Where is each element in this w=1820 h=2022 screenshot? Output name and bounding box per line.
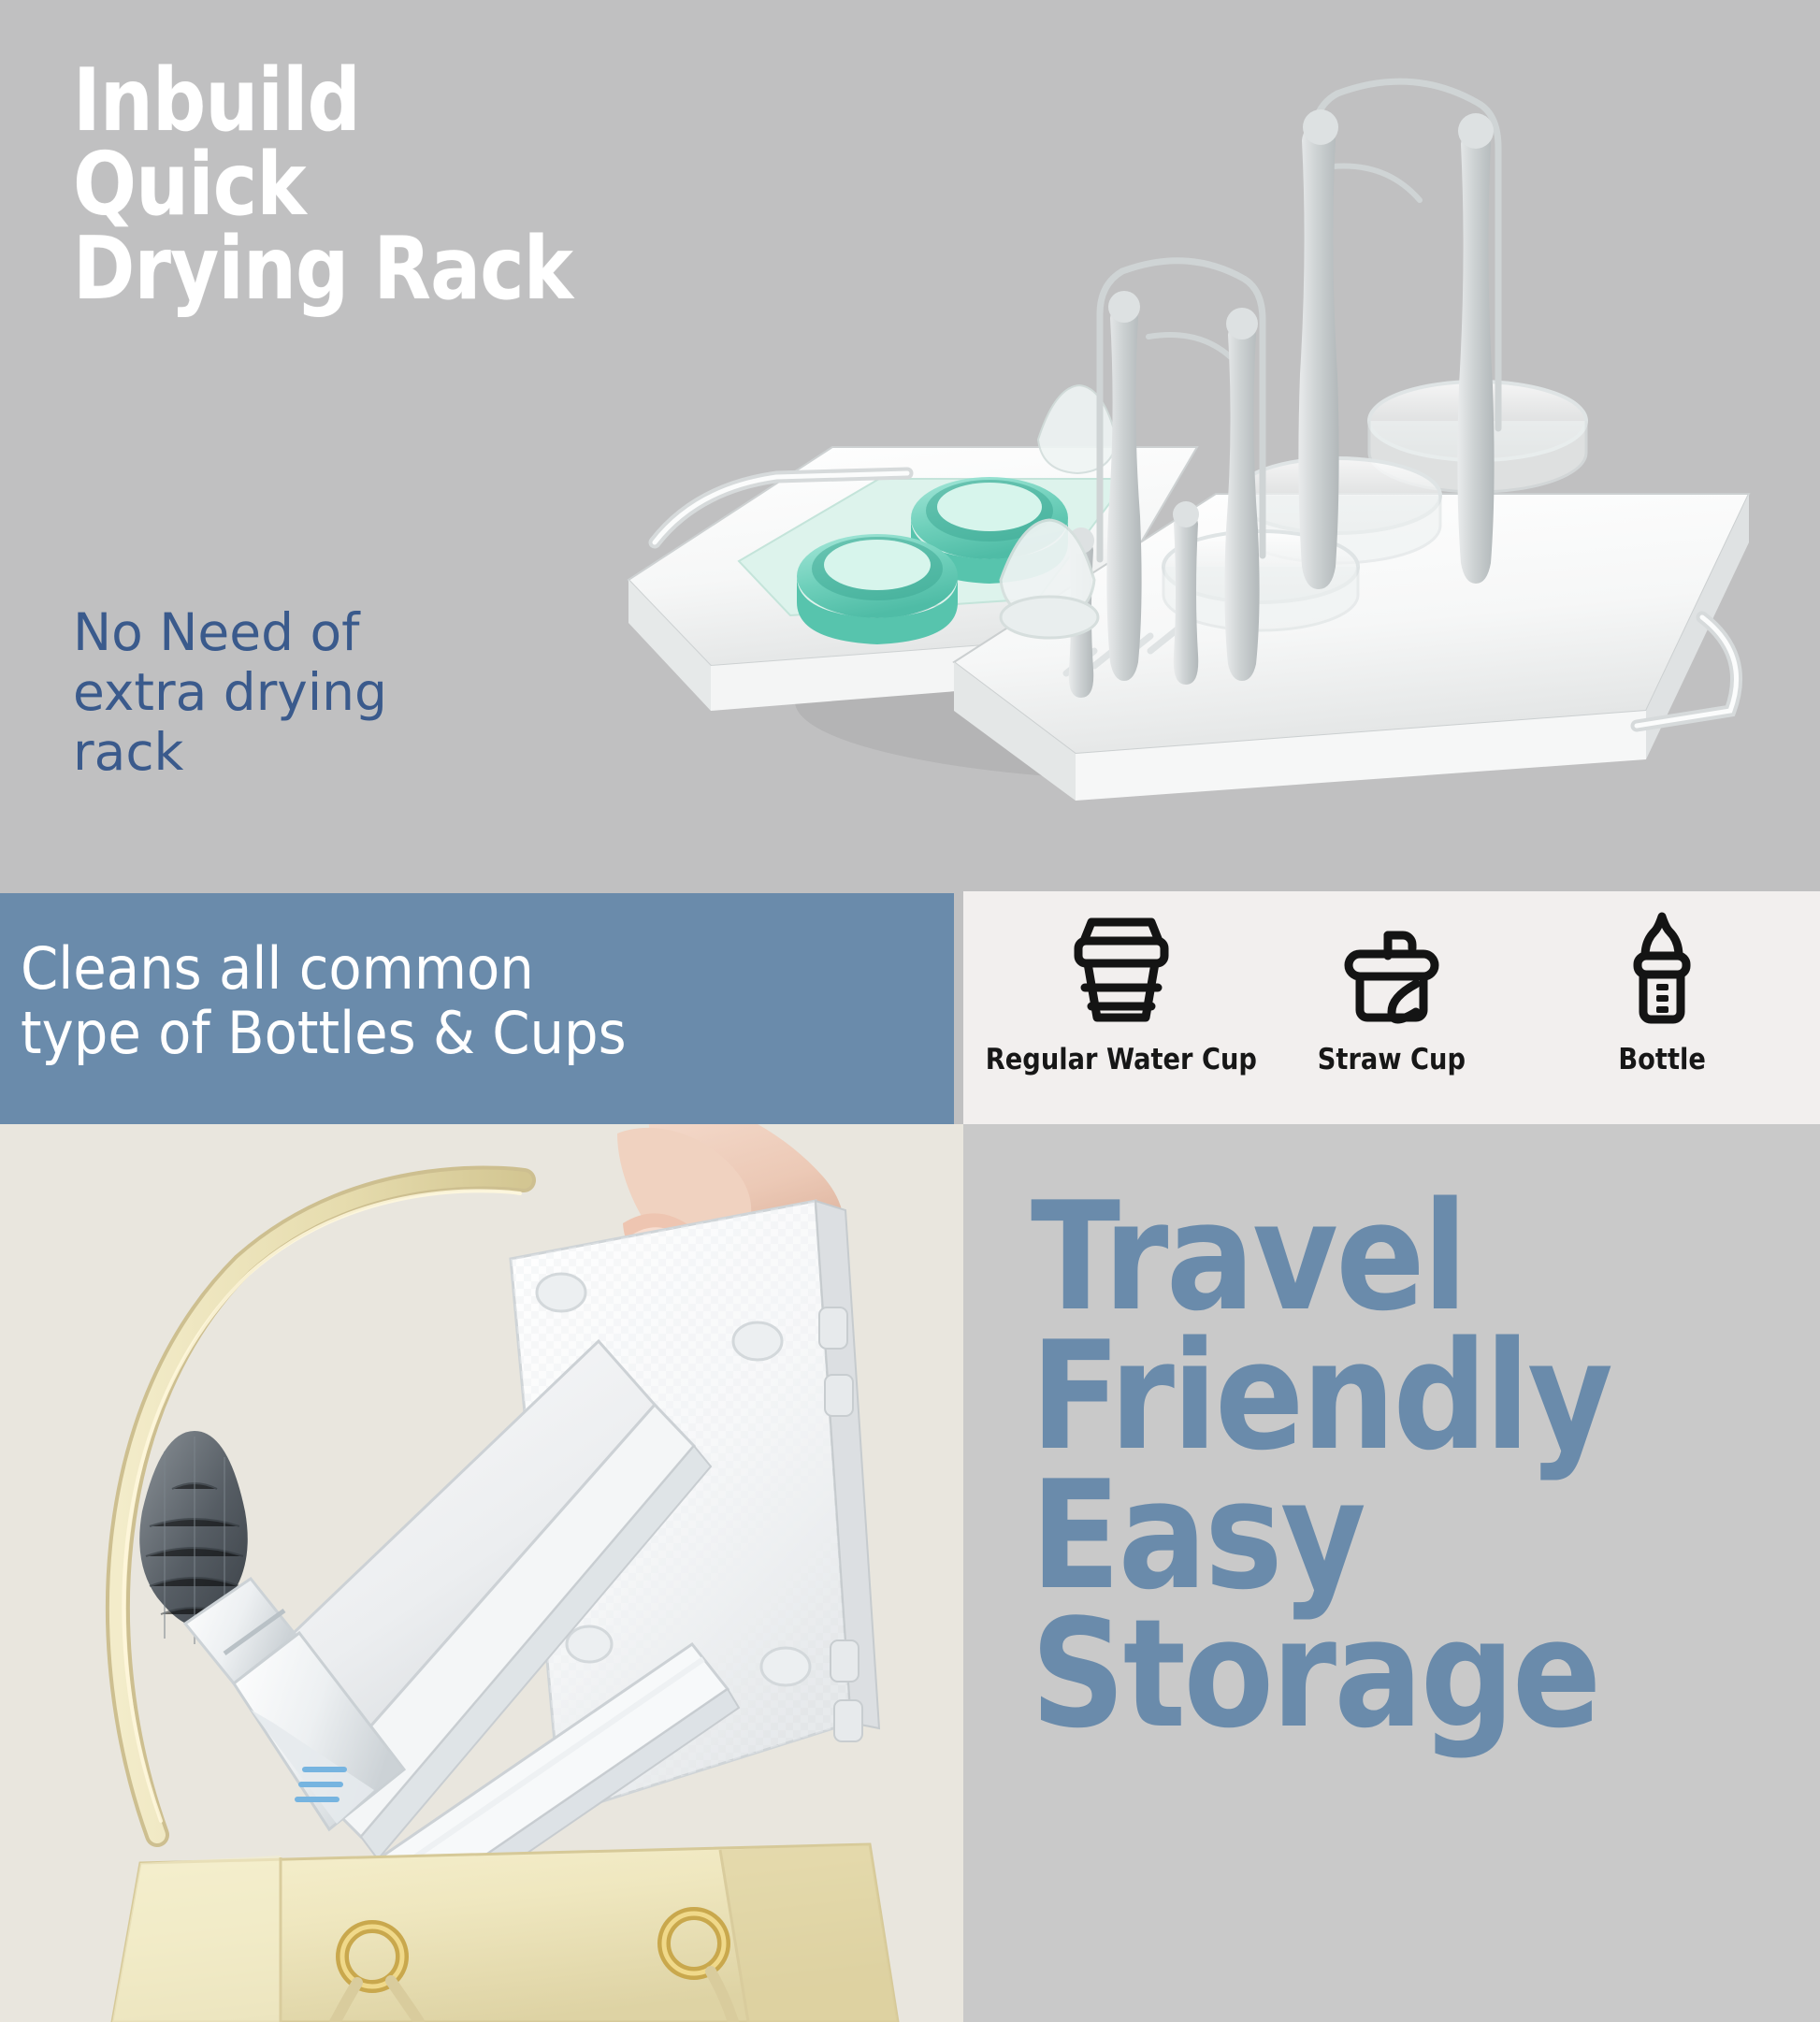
bottle-drying-rack-image — [599, 56, 1820, 879]
top-section: Inbuild Quick Drying Rack No Need of ext… — [0, 0, 1820, 893]
handbag — [112, 1844, 898, 2022]
band-text: Cleans all common type of Bottles & Cups — [21, 936, 882, 1066]
vessel-item-bottle: Bottle — [1531, 903, 1793, 1076]
vessel-label: Straw Cup — [1318, 1043, 1466, 1076]
mint-cup-front — [797, 534, 958, 644]
page-title: Inbuild Quick Drying Rack — [73, 58, 732, 311]
cleans-all-bottles-band: Cleans all common type of Bottles & Cups — [0, 893, 954, 1124]
vessel-label: Bottle — [1619, 1043, 1706, 1076]
compatible-vessels-panel: Regular Water Cup Straw Cup — [963, 891, 1820, 1124]
regular-water-cup-icon — [1060, 903, 1183, 1033]
vessel-item-regular-water-cup: Regular Water Cup — [990, 903, 1252, 1076]
straw-cup-icon — [1330, 903, 1453, 1033]
travel-friendly-section: Travel Friendly Easy Storage — [963, 1124, 1820, 2022]
baby-bottle-icon — [1600, 903, 1724, 1033]
top-subheading: No Need of extra drying rack — [73, 603, 634, 782]
travel-friendly-text: Travel Friendly Easy Storage — [1031, 1188, 1739, 1744]
folded-brush-in-handbag-image — [0, 1124, 963, 2022]
vessel-item-straw-cup: Straw Cup — [1261, 903, 1523, 1076]
product-infographic-page: Inbuild Quick Drying Rack No Need of ext… — [0, 0, 1820, 2022]
vessel-label: Regular Water Cup — [986, 1043, 1257, 1076]
